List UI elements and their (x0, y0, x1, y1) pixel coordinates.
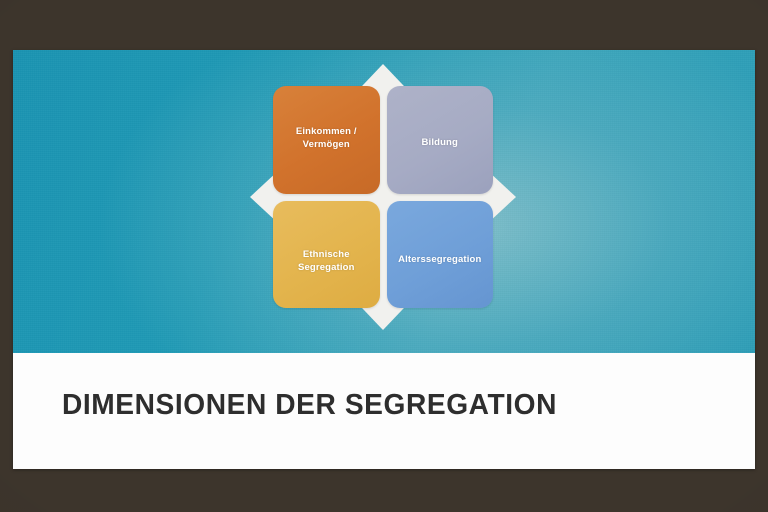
slide-title-band: DIMENSIONEN DER SEGREGATION (13, 353, 755, 469)
matrix-cell-income-label: Einkommen /Vermögen (296, 126, 357, 152)
screenshot-root: Einkommen /Vermögen Bildung EthnischeSeg… (0, 0, 768, 512)
matrix-cells: Einkommen /Vermögen Bildung EthnischeSeg… (273, 86, 493, 308)
matrix-cell-ethnic-label: EthnischeSegregation (298, 249, 355, 275)
slide-title: DIMENSIONEN DER SEGREGATION (62, 389, 557, 422)
slide-canvas: Einkommen /Vermögen Bildung EthnischeSeg… (13, 50, 755, 353)
matrix-cell-education[interactable]: Bildung (387, 86, 494, 194)
matrix-cell-age-label: Alterssegregation (398, 254, 481, 267)
matrix-cell-age[interactable]: Alterssegregation (387, 201, 494, 309)
matrix-cell-education-label: Bildung (422, 137, 458, 150)
matrix-cell-ethnic[interactable]: EthnischeSegregation (273, 201, 380, 309)
matrix-cell-income[interactable]: Einkommen /Vermögen (273, 86, 380, 194)
segregation-matrix-diagram: Einkommen /Vermögen Bildung EthnischeSeg… (246, 58, 520, 336)
presentation-slide: Einkommen /Vermögen Bildung EthnischeSeg… (13, 50, 755, 469)
